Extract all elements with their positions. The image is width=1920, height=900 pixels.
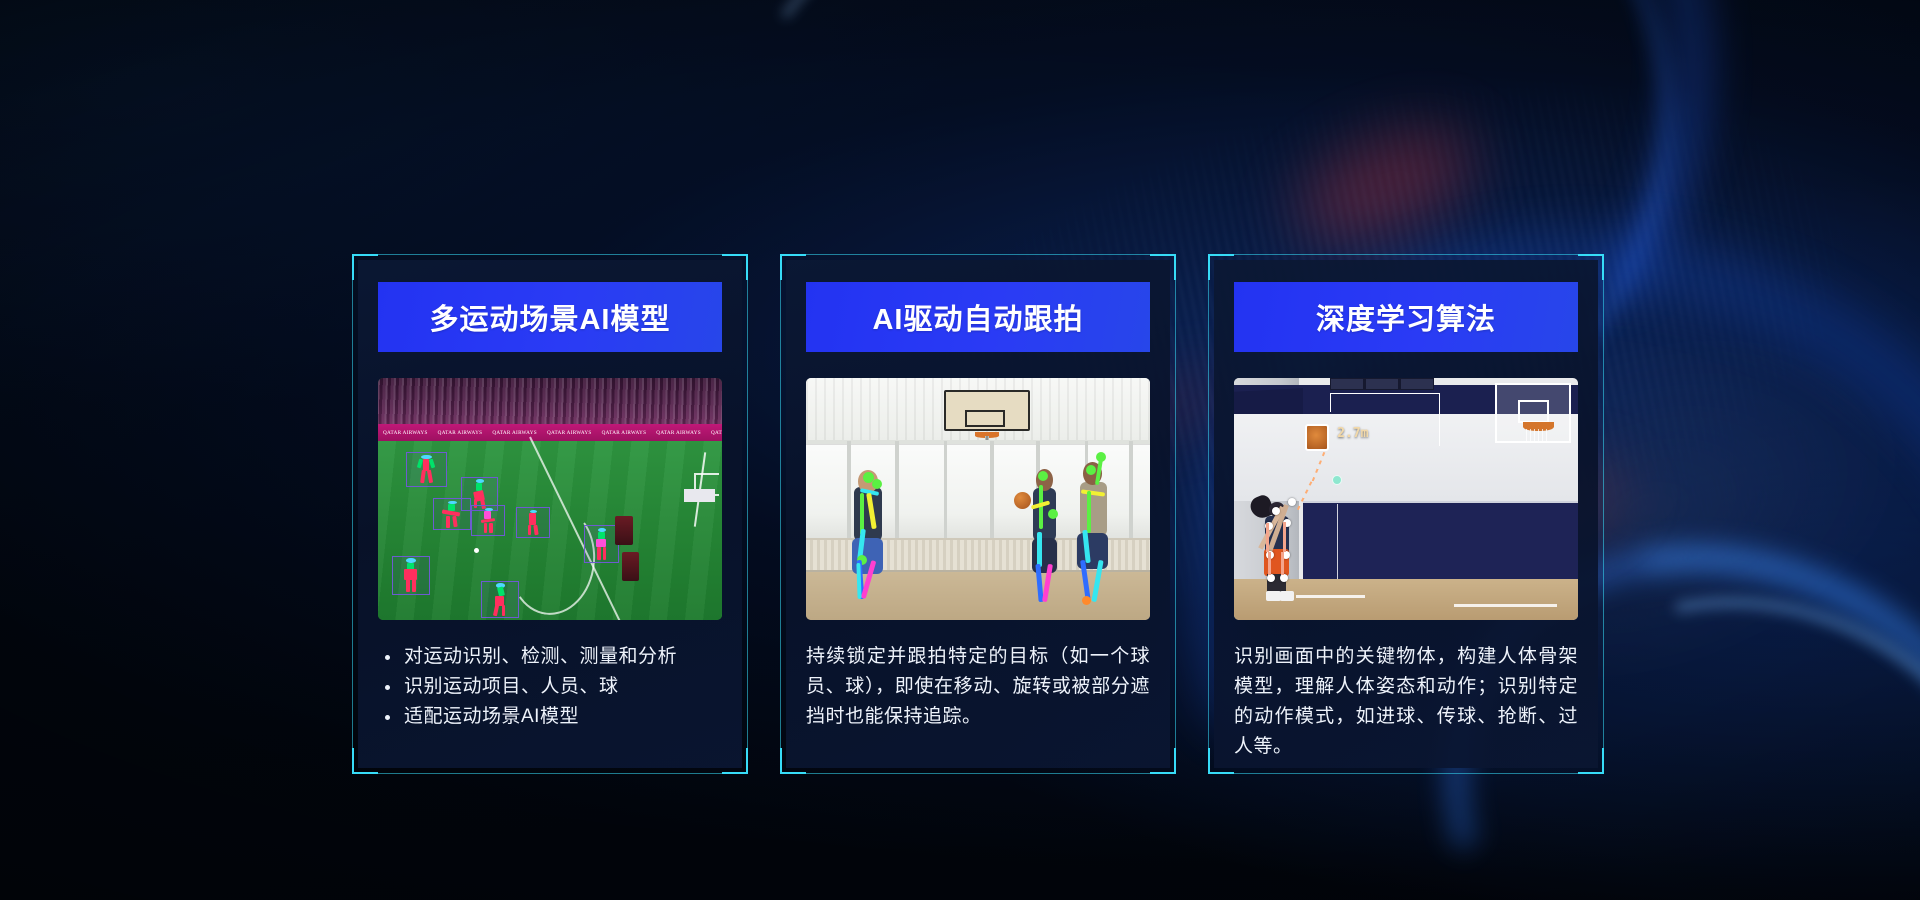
shooting-player xyxy=(1258,489,1299,600)
tracking-guide-vertical xyxy=(1439,393,1440,446)
detection-box xyxy=(433,498,471,530)
scoreboard xyxy=(1330,378,1433,390)
window-mullion xyxy=(1129,441,1133,538)
pose-bone xyxy=(1268,552,1271,575)
card-edge-rail-left xyxy=(1208,280,1209,748)
card-body-ai-auto-tracking: 持续锁定并跟拍特定的目标（如一个球员、球），即使在移动、旋转或被部分遮挡时也能保… xyxy=(806,642,1150,732)
navy-wall-pad xyxy=(1303,501,1578,578)
pose-keypoint xyxy=(1280,574,1288,582)
basketball-backboard xyxy=(944,390,1030,431)
card-body-multi-sport-ai-model: 对运动识别、检测、测量和分析 识别运动项目、人员、球 适配运动场景AI模型 xyxy=(378,642,722,732)
soccer-pitch xyxy=(378,441,722,620)
feature-card-multi-sport-ai-model[interactable]: 多运动场景AI模型 QATAR AIRWAYSQATAR AIRWAYSQATA… xyxy=(358,260,742,768)
list-item: 对运动识别、检测、测量和分析 xyxy=(378,642,722,672)
window-mullion xyxy=(990,441,994,538)
backboard-inner-square xyxy=(1518,400,1550,424)
detection-box xyxy=(516,507,550,537)
card-description: 识别画面中的关键物体，构建人体骨架模型，理解人体姿态和动作；识别特定的动作模式，… xyxy=(1234,642,1578,762)
feature-card-ai-auto-tracking[interactable]: AI驱动自动跟拍 xyxy=(786,260,1170,768)
card-body-deep-learning-algorithm: 识别画面中的关键物体，构建人体骨架模型，理解人体姿态和动作；识别特定的动作模式，… xyxy=(1234,642,1578,762)
card-title-deep-learning-algorithm: 深度学习算法 xyxy=(1234,282,1578,352)
feature-bullet-list: 对运动识别、检测、测量和分析 识别运动项目、人员、球 适配运动场景AI模型 xyxy=(378,642,722,732)
tracking-guide-horizontal xyxy=(1330,393,1440,394)
window-sill-top xyxy=(806,440,1150,444)
secondary-ad-board xyxy=(684,489,715,502)
pose-bone xyxy=(1283,522,1286,552)
court-line xyxy=(1454,604,1557,607)
basketball-net xyxy=(1526,429,1550,444)
card-edge-rail-left xyxy=(780,280,781,748)
player-sock xyxy=(1280,591,1295,601)
tracked-player xyxy=(1067,458,1122,608)
pose-keypoint xyxy=(1288,498,1296,506)
card-title-ai-auto-tracking: AI驱动自动跟拍 xyxy=(806,282,1150,352)
backboard-inner-square xyxy=(965,410,1004,427)
stadium-crowd xyxy=(378,378,722,426)
soccer-ball xyxy=(474,548,479,553)
tracked-player xyxy=(1023,465,1071,610)
card-media-shot-trajectory-tracking: 2.7m xyxy=(1234,378,1578,620)
card-description: 持续锁定并跟拍特定的目标（如一个球员、球），即使在移动、旋转或被部分遮挡时也能保… xyxy=(806,642,1150,732)
list-item: 识别运动项目、人员、球 xyxy=(378,672,722,702)
detection-box xyxy=(392,556,430,595)
card-media-gym-basketball-pose xyxy=(806,378,1150,620)
pose-bone xyxy=(1266,523,1269,552)
player-sock xyxy=(1266,591,1281,601)
detection-box xyxy=(584,525,618,563)
ball-tracking-box xyxy=(1305,424,1329,451)
card-edge-rail-right xyxy=(747,280,748,748)
window-mullion xyxy=(944,441,948,538)
card-edge-rail-right xyxy=(1175,280,1176,748)
tracking-marker-dot xyxy=(1332,475,1342,485)
tracked-player xyxy=(844,468,899,608)
list-item: 适配运动场景AI模型 xyxy=(378,702,722,732)
feature-card-deep-learning-algorithm[interactable]: 深度学习算法 2.7m xyxy=(1214,260,1598,768)
court-line xyxy=(1296,595,1365,598)
pose-bone xyxy=(1281,552,1284,575)
feature-card-row: 多运动场景AI模型 QATAR AIRWAYSQATAR AIRWAYSQATA… xyxy=(358,260,1598,768)
pitch-side-ad-banner: QATAR AIRWAYSQATAR AIRWAYSQATAR AIRWAYS … xyxy=(378,424,722,442)
detection-box xyxy=(471,505,505,535)
detection-box xyxy=(406,452,447,488)
height-measurement-label: 2.7m xyxy=(1337,426,1368,441)
card-title-multi-sport-ai-model: 多运动场景AI模型 xyxy=(378,282,722,352)
tracking-guide-vertical-left xyxy=(1330,393,1331,412)
detection-box xyxy=(481,581,519,619)
player-unboxed xyxy=(622,552,639,581)
card-media-soccer-pitch-detection: QATAR AIRWAYSQATAR AIRWAYSQATAR AIRWAYS … xyxy=(378,378,722,620)
player-unboxed xyxy=(615,516,632,545)
